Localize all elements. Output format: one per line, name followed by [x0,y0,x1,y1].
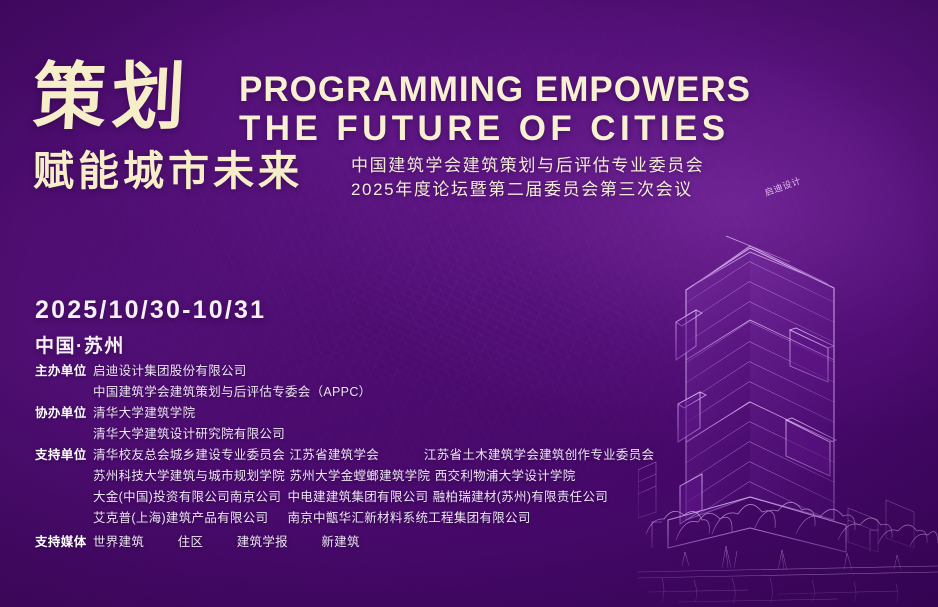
credit-entry: 江苏省建筑学会 [289,444,419,463]
credit-entry: 南京中甑华汇新材料系统工程集团有限公司 [287,507,530,526]
poster-content: 策划 赋能城市未来 PROGRAMMING EMPOWERS THE FUTUR… [0,0,938,607]
credit-entry: 新建筑 [321,531,359,550]
credit-row: 苏州科技大学建筑与城市规划学院 苏州大学金螳螂建筑学院 西交利物浦大学设计学院 [35,465,735,486]
credit-entry: 艾克普(上海)建筑产品有限公司 [93,507,283,526]
credit-label-cohost: 协办单位 [35,402,97,421]
title-chinese-main: 策划 [31,58,193,136]
credit-row: 协办单位 清华大学建筑学院 [35,402,735,423]
poster-canvas: 启迪设计 策划 赋能城市未来 PROGRAMMING EMPOWERS THE … [0,0,938,607]
credit-row: 支持单位 清华校友总会城乡建设专业委员会 江苏省建筑学会 江苏省土木建筑学会建筑… [35,444,735,465]
event-info-block: 2025/10/30-10/31 中国·苏州 [35,296,266,358]
credit-entry: 启迪设计集团股份有限公司 [93,360,247,379]
credit-entry: 融柏瑞建材(苏州)有限责任公司 [433,486,608,505]
credit-entry: 苏州科技大学建筑与城市规划学院 [93,465,285,484]
subtitle-line1: 中国建筑学会建筑策划与后评估专业委员会 [351,154,704,178]
credit-items: 清华大学建筑学院 [93,402,195,421]
credit-items: 世界建筑 住区 建筑学报 新建筑 [93,531,389,550]
credit-items: 大金(中国)投资有限公司南京公司 中电建建筑集团有限公司 融柏瑞建材(苏州)有限… [93,486,608,505]
credit-row: 清华大学建筑设计研究院有限公司 [35,423,735,444]
credit-entry: 建筑学报 [237,531,288,550]
credit-label-media: 支持媒体 [35,531,97,550]
credit-entry: 清华校友总会城乡建设专业委员会 [93,444,285,463]
credit-entry: 清华大学建筑学院 [93,402,195,421]
credit-entry: 中电建建筑集团有限公司 [287,486,428,505]
credit-items: 苏州科技大学建筑与城市规划学院 苏州大学金螳螂建筑学院 西交利物浦大学设计学院 [93,465,576,484]
title-english-line2: THE FUTURE OF CITIES [239,109,751,148]
title-chinese-sub: 赋能城市未来 [33,149,303,194]
credit-row: 中国建筑学会建筑策划与后评估专委会（APPC） [35,381,735,402]
event-location: 中国·苏州 [35,331,266,358]
credit-group-cohost: 协办单位 清华大学建筑学院 清华大学建筑设计研究院有限公司 [35,402,735,444]
title-block: 策划 [33,58,191,136]
credit-entry: 西交利物浦大学设计学院 [435,465,576,484]
credit-entry: 中国建筑学会建筑策划与后评估专委会（APPC） [93,381,371,400]
credit-items: 启迪设计集团股份有限公司 [93,360,247,379]
credit-entry: 江苏省土木建筑学会建筑创作专业委员会 [424,444,654,463]
credits-block: 主办单位 启迪设计集团股份有限公司 中国建筑学会建筑策划与后评估专委会（APPC… [35,360,735,552]
title-english-block: PROGRAMMING EMPOWERS THE FUTURE OF CITIE… [239,70,751,148]
credit-entry: 大金(中国)投资有限公司南京公司 [93,486,283,505]
credit-items: 清华校友总会城乡建设专业委员会 江苏省建筑学会 江苏省土木建筑学会建筑创作专业委… [93,444,654,463]
credit-label-host: 主办单位 [35,360,97,379]
credit-group-host: 主办单位 启迪设计集团股份有限公司 中国建筑学会建筑策划与后评估专委会（APPC… [35,360,735,402]
credit-label-support: 支持单位 [35,444,97,463]
event-date: 2025/10/30-10/31 [35,296,266,325]
subtitle-block: 中国建筑学会建筑策划与后评估专业委员会 2025年度论坛暨第二届委员会第三次会议 [351,154,704,202]
credit-entry: 世界建筑 [93,531,144,550]
credit-items: 清华大学建筑设计研究院有限公司 [93,423,285,442]
credit-entry: 住区 [178,531,204,550]
credit-items: 艾克普(上海)建筑产品有限公司 南京中甑华汇新材料系统工程集团有限公司 [93,507,531,526]
credit-row: 艾克普(上海)建筑产品有限公司 南京中甑华汇新材料系统工程集团有限公司 [35,507,735,528]
credit-row: 主办单位 启迪设计集团股份有限公司 [35,360,735,381]
credit-row: 大金(中国)投资有限公司南京公司 中电建建筑集团有限公司 融柏瑞建材(苏州)有限… [35,486,735,507]
credit-items: 中国建筑学会建筑策划与后评估专委会（APPC） [93,381,371,400]
credit-group-support: 支持单位 清华校友总会城乡建设专业委员会 江苏省建筑学会 江苏省土木建筑学会建筑… [35,444,735,528]
credit-entry: 苏州大学金螳螂建筑学院 [289,465,430,484]
subtitle-line2: 2025年度论坛暨第二届委员会第三次会议 [351,178,704,202]
credit-entry: 清华大学建筑设计研究院有限公司 [93,423,285,442]
credit-group-media: 支持媒体 世界建筑 住区 建筑学报 新建筑 [35,531,735,552]
title-english-line1: PROGRAMMING EMPOWERS [239,70,751,109]
credit-row: 支持媒体 世界建筑 住区 建筑学报 新建筑 [35,531,735,552]
